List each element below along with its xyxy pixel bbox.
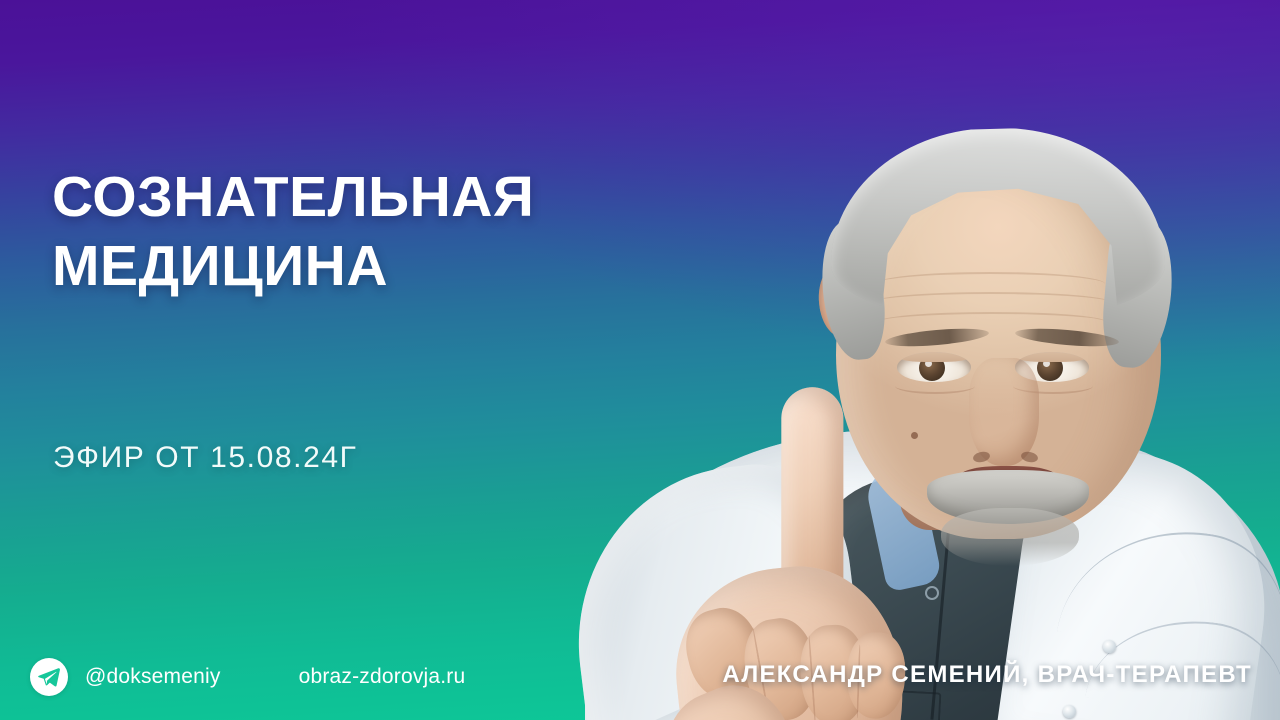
facial-mole <box>911 432 918 439</box>
footer-contacts: @doksemeniy obraz-zdorovja.ru <box>30 655 465 699</box>
page-title: СОЗНАТЕЛЬНАЯ МЕДИЦИНА <box>52 163 672 301</box>
speaker-caption: АЛЕКСАНДР СЕМЕНИЙ, ВРАЧ-ТЕРАПЕВТ <box>722 661 1252 689</box>
telegram-handle[interactable]: @doksemeniy <box>85 665 221 689</box>
airdate-label: ЭФИР ОТ 15.08.24Г <box>53 441 358 475</box>
website-url[interactable]: obraz-zdorovja.ru <box>299 665 466 689</box>
title-line-1: СОЗНАТЕЛЬНАЯ <box>52 163 672 232</box>
speaker-photo <box>545 0 1280 720</box>
eyelid-right <box>1015 352 1089 362</box>
title-line-2: МЕДИЦИНА <box>52 232 672 301</box>
forehead-wrinkle <box>870 292 1112 314</box>
thumbnail-canvas: СОЗНАТЕЛЬНАЯ МЕДИЦИНА ЭФИР ОТ 15.08.24Г … <box>0 0 1280 720</box>
nose <box>969 358 1039 466</box>
coat-button-icon <box>1103 640 1116 653</box>
telegram-icon[interactable] <box>30 658 68 696</box>
coat-button-icon <box>1063 705 1076 718</box>
chin-stubble <box>941 508 1079 566</box>
eyelid-left <box>897 352 971 362</box>
undereye-line-left <box>895 378 975 394</box>
forehead-wrinkle <box>878 312 1106 332</box>
